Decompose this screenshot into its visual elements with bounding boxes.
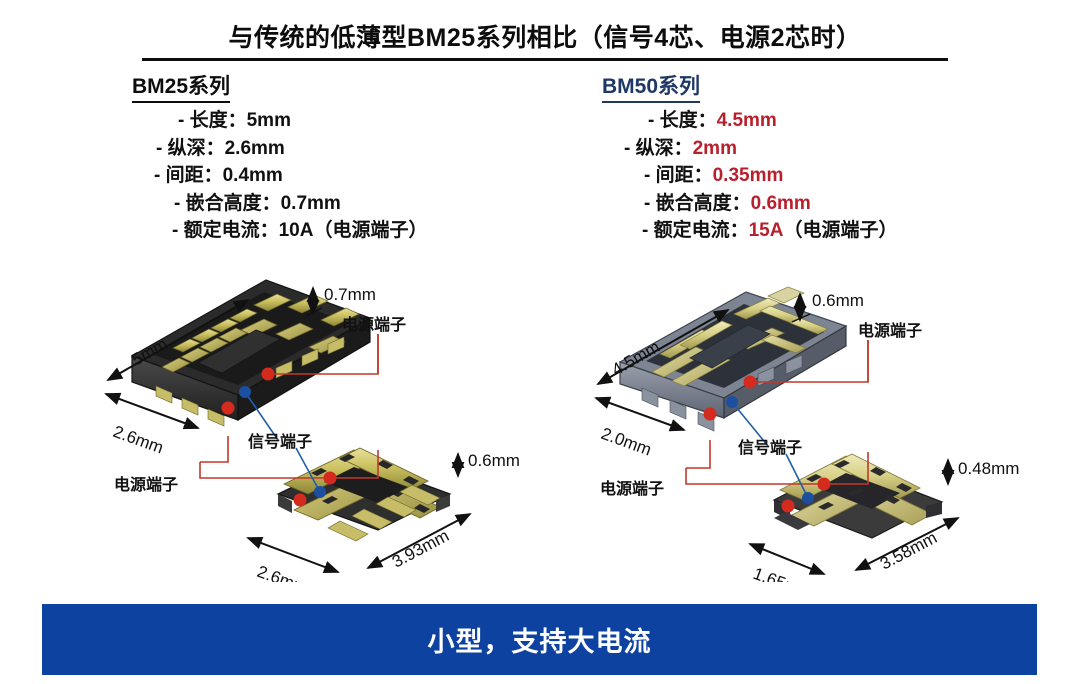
spec-value: 2mm — [693, 138, 737, 159]
dim-socket-depth: 2.6mm — [111, 422, 166, 458]
dim-socket-height: 0.6mm — [812, 291, 864, 310]
spec-item-length: - 长度：4.5mm — [602, 107, 897, 135]
spec-label: - 间距： — [154, 165, 223, 186]
spec-value: 0.4mm — [223, 165, 283, 186]
spec-value: 4.5mm — [717, 110, 777, 131]
spec-item-mated-height: - 嵌合高度：0.7mm — [132, 190, 427, 218]
dim-plug-width: 2.6mm — [255, 562, 310, 582]
spec-item-rated-current: - 额定电流：15A（电源端子） — [602, 217, 897, 245]
spec-item-length: - 长度：5mm — [132, 107, 427, 135]
spec-item-depth: - 纵深：2.6mm — [132, 135, 427, 163]
spec-heading-bm50: BM50系列 — [602, 70, 700, 103]
callout-signal: 信号端子 — [248, 432, 312, 451]
spec-label: - 额定电流： — [172, 220, 279, 241]
spec-value: 0.6mm — [751, 193, 811, 214]
dim-socket-depth: 2.0mm — [599, 424, 654, 460]
spec-item-mated-height: - 嵌合高度：0.6mm — [602, 190, 897, 218]
spec-item-depth: - 纵深：2mm — [602, 135, 897, 163]
spec-label: - 间距： — [644, 165, 713, 186]
signal-terminal-dot — [314, 486, 326, 498]
page-title: 与传统的低薄型BM25系列相比（信号4芯、电源2芯时） — [142, 18, 948, 61]
spec-list-bm25: - 长度：5mm - 纵深：2.6mm - 间距：0.4mm - 嵌合高度：0.… — [132, 107, 427, 245]
spec-label: - 纵深： — [156, 138, 225, 159]
callout-power-bottom: 电源端子 — [114, 475, 178, 494]
spec-label: - 长度： — [178, 110, 247, 131]
diagram-bm25: 5mm 2.6mm 0.7mm 2.6mm 3.93mm 0.6mm — [78, 262, 558, 582]
diagram-bm50: 4.5mm 2.0mm 0.6mm 1.65mm 3.58mm 0.48mm — [572, 262, 1052, 582]
callout-signal: 信号端子 — [738, 438, 802, 457]
spec-list-bm50: - 长度：4.5mm - 纵深：2mm - 间距：0.35mm - 嵌合高度：0… — [602, 107, 897, 245]
spec-label: - 额定电流： — [642, 220, 749, 241]
dim-socket-height: 0.7mm — [324, 285, 376, 304]
dim-plug-height: 0.48mm — [958, 459, 1019, 478]
spec-value: 10A — [279, 220, 314, 241]
spec-tail: （电源端子） — [313, 220, 427, 241]
spec-item-rated-current: - 额定电流：10A（电源端子） — [132, 217, 427, 245]
dim-plug-height: 0.6mm — [468, 451, 520, 470]
power-terminal-dot — [744, 376, 757, 389]
spec-heading-bm25: BM25系列 — [132, 70, 230, 103]
spec-label: - 长度： — [648, 110, 717, 131]
spec-label: - 嵌合高度： — [174, 193, 281, 214]
power-terminal-dot — [782, 500, 795, 513]
signal-terminal-dot — [726, 396, 738, 408]
spec-value: 0.7mm — [281, 193, 341, 214]
bottom-banner: 小型，支持大电流 — [42, 604, 1037, 675]
spec-label: - 嵌合高度： — [644, 193, 751, 214]
banner-text: 小型，支持大电流 — [428, 620, 652, 659]
spec-value: 5mm — [247, 110, 291, 131]
power-terminal-dot — [818, 478, 831, 491]
slide-root: 与传统的低薄型BM25系列相比（信号4芯、电源2芯时） BM25系列 - 长度：… — [0, 0, 1080, 684]
power-terminal-dot — [294, 494, 307, 507]
spec-block-bm50: BM50系列 - 长度：4.5mm - 纵深：2mm - 间距：0.35mm -… — [602, 70, 897, 245]
spec-value: 2.6mm — [225, 138, 285, 159]
spec-value: 0.35mm — [713, 165, 784, 186]
power-terminal-dot — [262, 368, 275, 381]
callout-power-top: 电源端子 — [342, 315, 406, 334]
spec-item-pitch: - 间距：0.4mm — [132, 162, 427, 190]
signal-terminal-dot — [239, 386, 251, 398]
power-terminal-dot — [704, 408, 717, 421]
bm50-plug-3d — [774, 454, 942, 538]
spec-value: 15A — [749, 220, 784, 241]
spec-label: - 纵深： — [624, 138, 693, 159]
dim-plug-length: 3.93mm — [389, 526, 452, 572]
callout-power-top: 电源端子 — [858, 321, 922, 340]
spec-tail: （电源端子） — [783, 220, 897, 241]
power-terminal-dot — [324, 472, 337, 485]
spec-block-bm25: BM25系列 - 长度：5mm - 纵深：2.6mm - 间距：0.4mm - … — [132, 70, 427, 245]
power-terminal-dot — [222, 402, 235, 415]
spec-item-pitch: - 间距：0.35mm — [602, 162, 897, 190]
callout-power-bottom: 电源端子 — [600, 479, 664, 498]
dim-plug-length: 3.58mm — [877, 528, 940, 574]
signal-terminal-dot — [802, 492, 814, 504]
